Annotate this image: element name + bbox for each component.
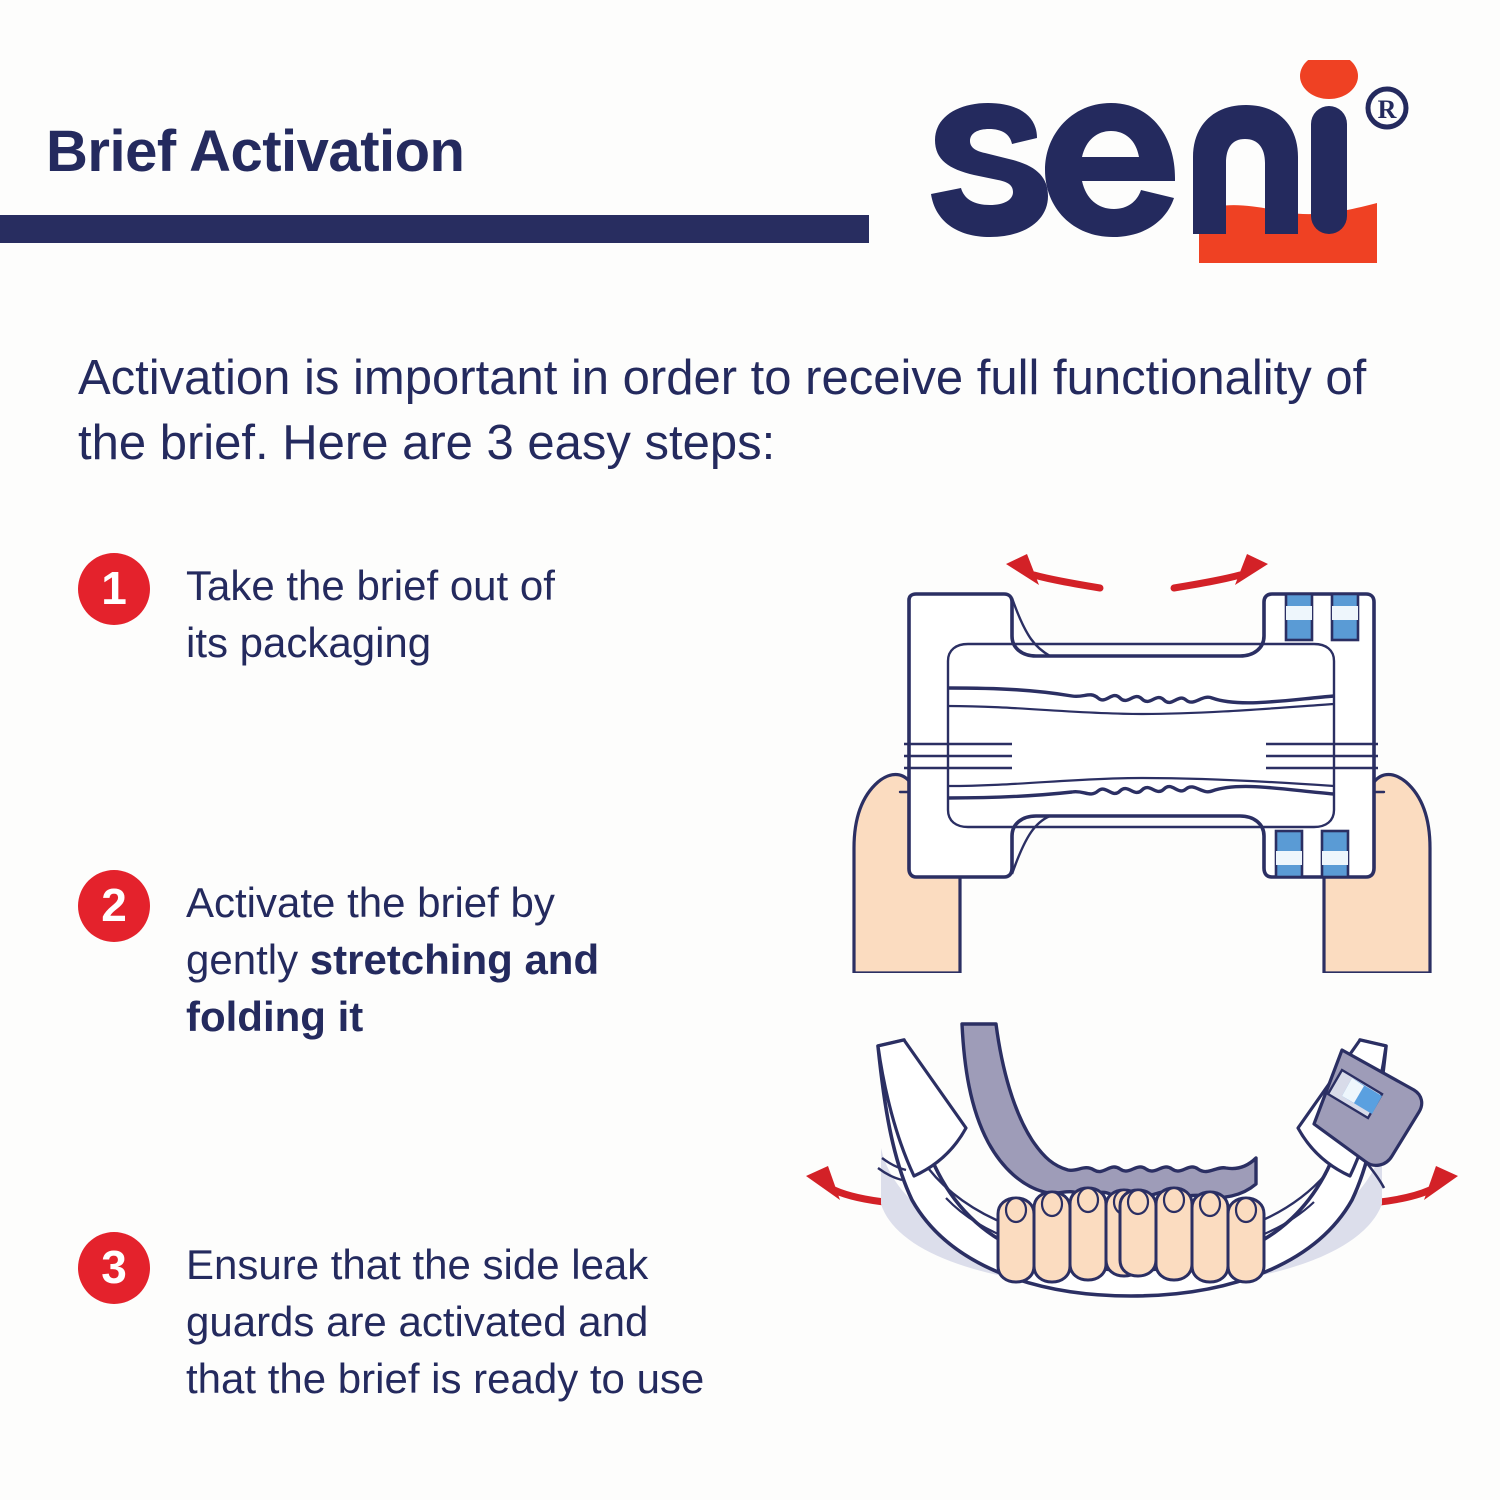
- stretch-brief-illustration: [836, 548, 1448, 973]
- page-title: Brief Activation: [46, 118, 464, 185]
- page-header: Brief Activation R: [0, 0, 1500, 300]
- logo-letter-i-dot: [1300, 60, 1358, 99]
- title-underline-rule: [0, 215, 869, 243]
- right-hand-grip: [1120, 1188, 1264, 1282]
- step-item-2: 2 Activate the brief bygently stretching…: [78, 870, 768, 1045]
- leak-guard-grey: [962, 1024, 1256, 1198]
- step-number-badge-2: 2: [78, 870, 150, 942]
- step-number-badge-1: 1: [78, 553, 150, 625]
- step-text-2: Activate the brief bygently stretching a…: [186, 870, 768, 1045]
- fastening-tab-top-left: [1286, 594, 1312, 640]
- logo-letter-e: [1045, 103, 1175, 237]
- step-text-1: Take the brief out ofits packaging: [186, 553, 768, 671]
- step-text-3: Ensure that the side leakguards are acti…: [186, 1232, 868, 1407]
- logo-letter-s: [931, 103, 1048, 237]
- fold-brief-illustration: [786, 1008, 1476, 1328]
- step-number-badge-3: 3: [78, 1232, 150, 1304]
- stretch-arrow-left-icon: [1006, 554, 1100, 588]
- fastening-tab-top-right: [1332, 594, 1358, 640]
- seni-logo-svg: R: [925, 60, 1425, 275]
- logo-letter-i-stem: [1311, 106, 1347, 234]
- step-item-1: 1 Take the brief out ofits packaging: [78, 553, 768, 671]
- seni-logo: R: [925, 60, 1425, 275]
- step-item-3: 3 Ensure that the side leakguards are ac…: [78, 1232, 868, 1407]
- intro-paragraph: Activation is important in order to rece…: [78, 346, 1378, 475]
- registered-trademark-icon: R: [1368, 89, 1406, 127]
- svg-text:R: R: [1378, 95, 1397, 124]
- fastening-tab-bottom-left: [1276, 831, 1302, 877]
- stretch-arrow-right-icon: [1174, 554, 1268, 588]
- fastening-tab-bottom-right: [1322, 831, 1348, 877]
